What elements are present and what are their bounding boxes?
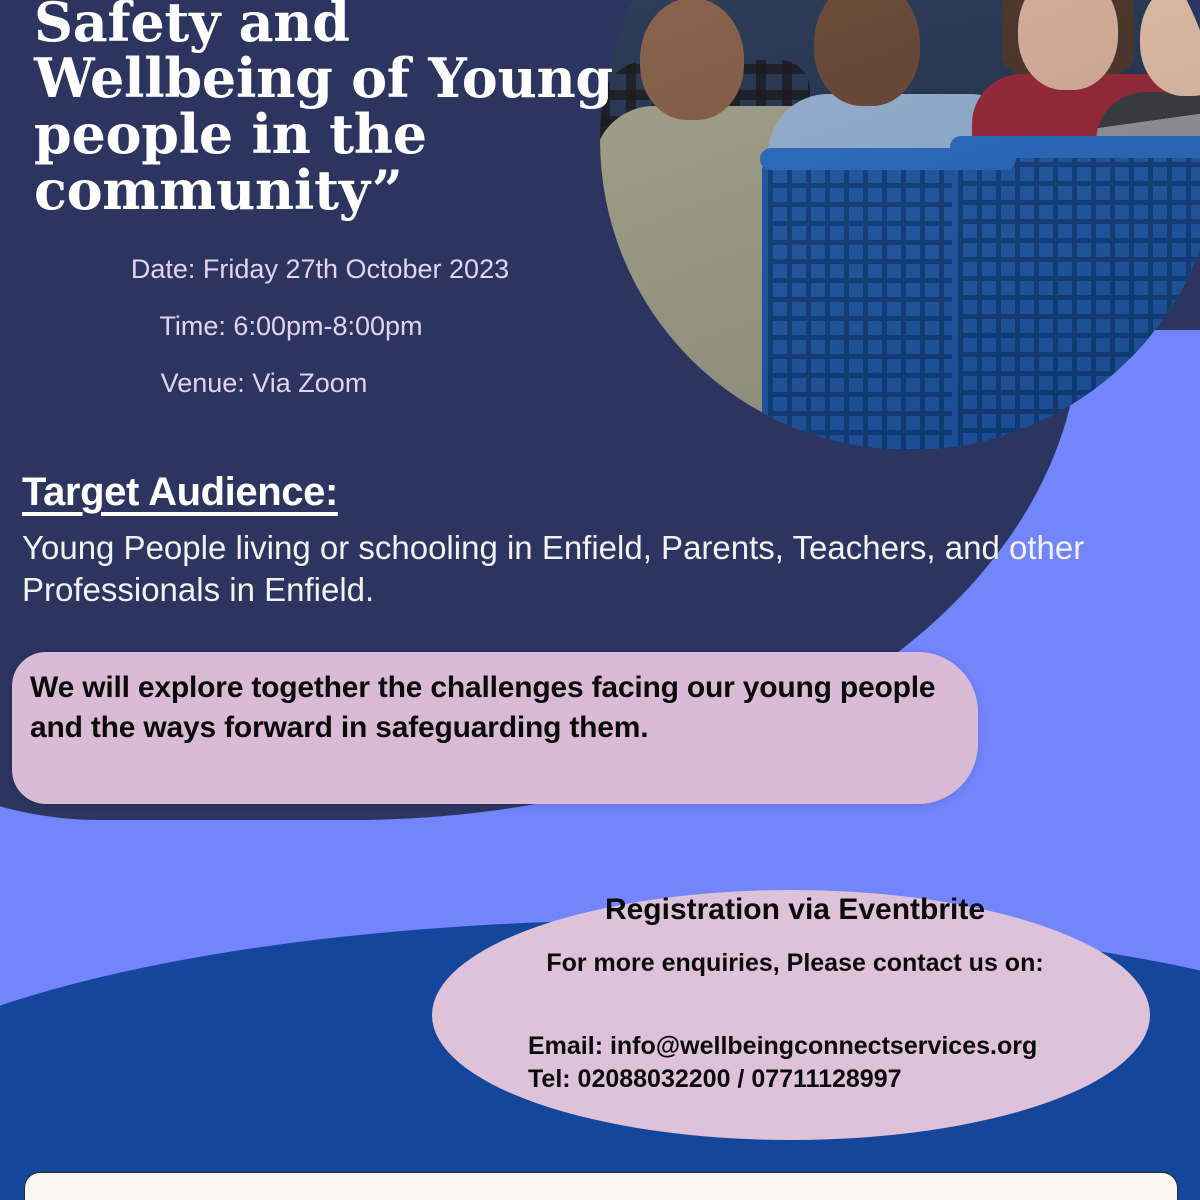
registration-email: Email: info@wellbeingconnectservices.org xyxy=(470,1030,1120,1063)
page-title: Safety and Wellbeing of Young people in … xyxy=(34,0,614,219)
target-audience-heading: Target Audience: xyxy=(22,470,338,515)
registration-telephone: Tel: 02088032200 / 07711128997 xyxy=(470,1063,1120,1096)
target-audience-body: Young People living or schooling in Enfi… xyxy=(22,527,1190,610)
registration-title: Registration via Eventbrite xyxy=(470,893,1120,927)
bottom-strip xyxy=(24,1172,1178,1200)
registration-content: Registration via Eventbrite For more enq… xyxy=(470,893,1120,1096)
event-flyer: Safety and Wellbeing of Young people in … xyxy=(0,0,1200,1200)
registration-subtitle: For more enquiries, Please contact us on… xyxy=(470,949,1120,978)
youth-group-photo xyxy=(600,0,1200,450)
photo-backdrop xyxy=(600,0,1200,450)
photo-color-grade xyxy=(600,0,1200,450)
event-details: Date: Friday 27th October 2023 Time: 6:0… xyxy=(60,256,580,397)
event-time: Time: 6:00pm-8:00pm xyxy=(60,313,580,340)
message-card: We will explore together the challenges … xyxy=(12,652,978,804)
message-text: We will explore together the challenges … xyxy=(30,668,960,748)
event-date: Date: Friday 27th October 2023 xyxy=(60,256,580,283)
event-venue: Venue: Via Zoom xyxy=(60,370,580,397)
